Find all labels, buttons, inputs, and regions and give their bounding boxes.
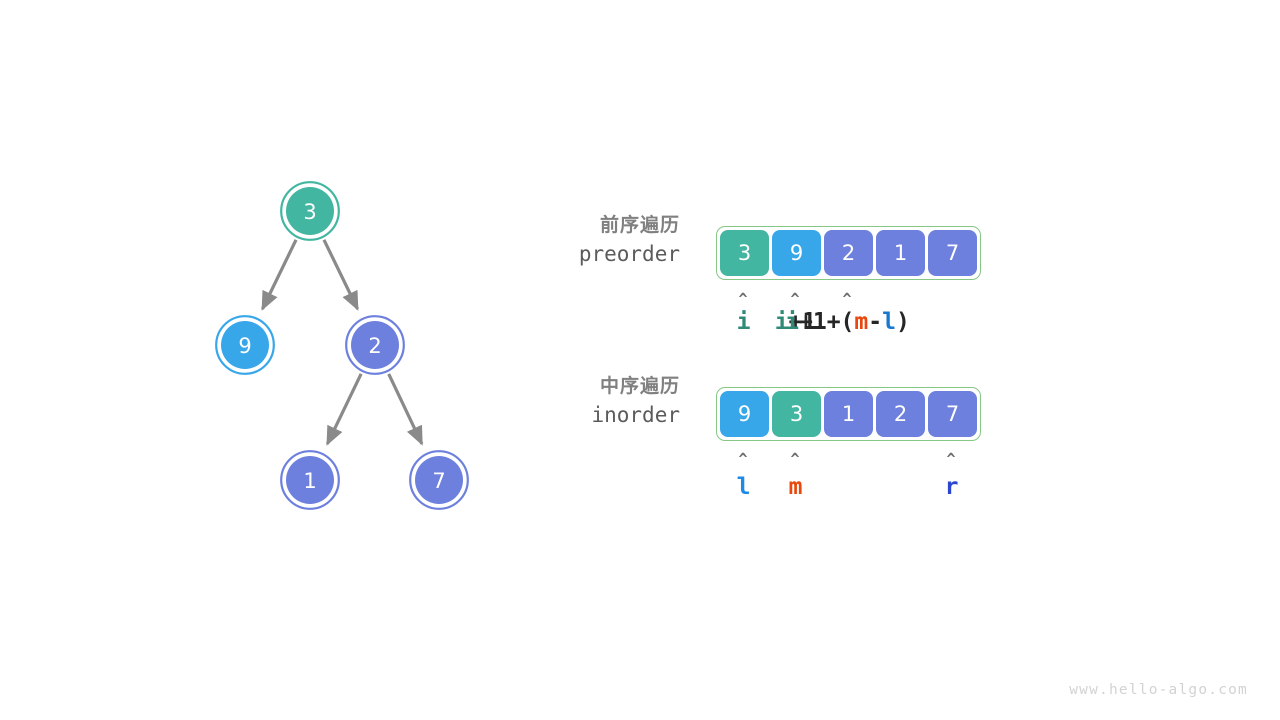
tree-edge-n2-n7 [389,374,422,444]
tree-node-3: 3 [281,182,339,240]
inorder-cell-3: 2 [876,391,925,437]
inorder-cell-1: 3 [772,391,821,437]
tree-node-value: 7 [432,469,445,493]
tree-node-7: 7 [410,451,468,509]
preorder-cell-0: 3 [720,230,769,276]
diagram-canvas: 39217 前序遍历 preorder 39217 中序遍历 inorder 9… [0,0,1280,720]
inorder-label-en: inorder [460,399,680,431]
inorder-cell-4: 7 [928,391,977,437]
inorder-label-cn: 中序遍历 [460,373,680,399]
tree-edge-n2-n1 [327,374,361,444]
tree-node-value: 9 [238,334,251,358]
preorder-label-en: preorder [460,238,680,270]
inorder-cell-2: 1 [824,391,873,437]
tree-node-1: 1 [281,451,339,509]
preorder-array: 39217 [716,226,981,280]
preorder-labels: 前序遍历 preorder [460,212,680,270]
inorder-cell-0: 9 [720,391,769,437]
tree-node-2: 2 [346,316,404,374]
tree-edge-n3-n2 [324,240,358,309]
tree-node-9: 9 [216,316,274,374]
tree-nodes: 39217 [216,182,468,509]
preorder-label-cn: 前序遍历 [460,212,680,238]
tree-node-value: 3 [303,200,316,224]
watermark: www.hello-algo.com [1069,682,1248,698]
inorder-array: 93127 [716,387,981,441]
inorder-labels: 中序遍历 inorder [460,373,680,431]
preorder-cell-4: 7 [928,230,977,276]
preorder-cell-2: 2 [824,230,873,276]
tree-edge-n3-n9 [262,240,296,309]
binary-tree-graphic: 39217 [0,0,1280,720]
preorder-cell-3: 1 [876,230,925,276]
preorder-cell-1: 9 [772,230,821,276]
tree-node-value: 1 [303,469,316,493]
tree-node-value: 2 [368,334,381,358]
